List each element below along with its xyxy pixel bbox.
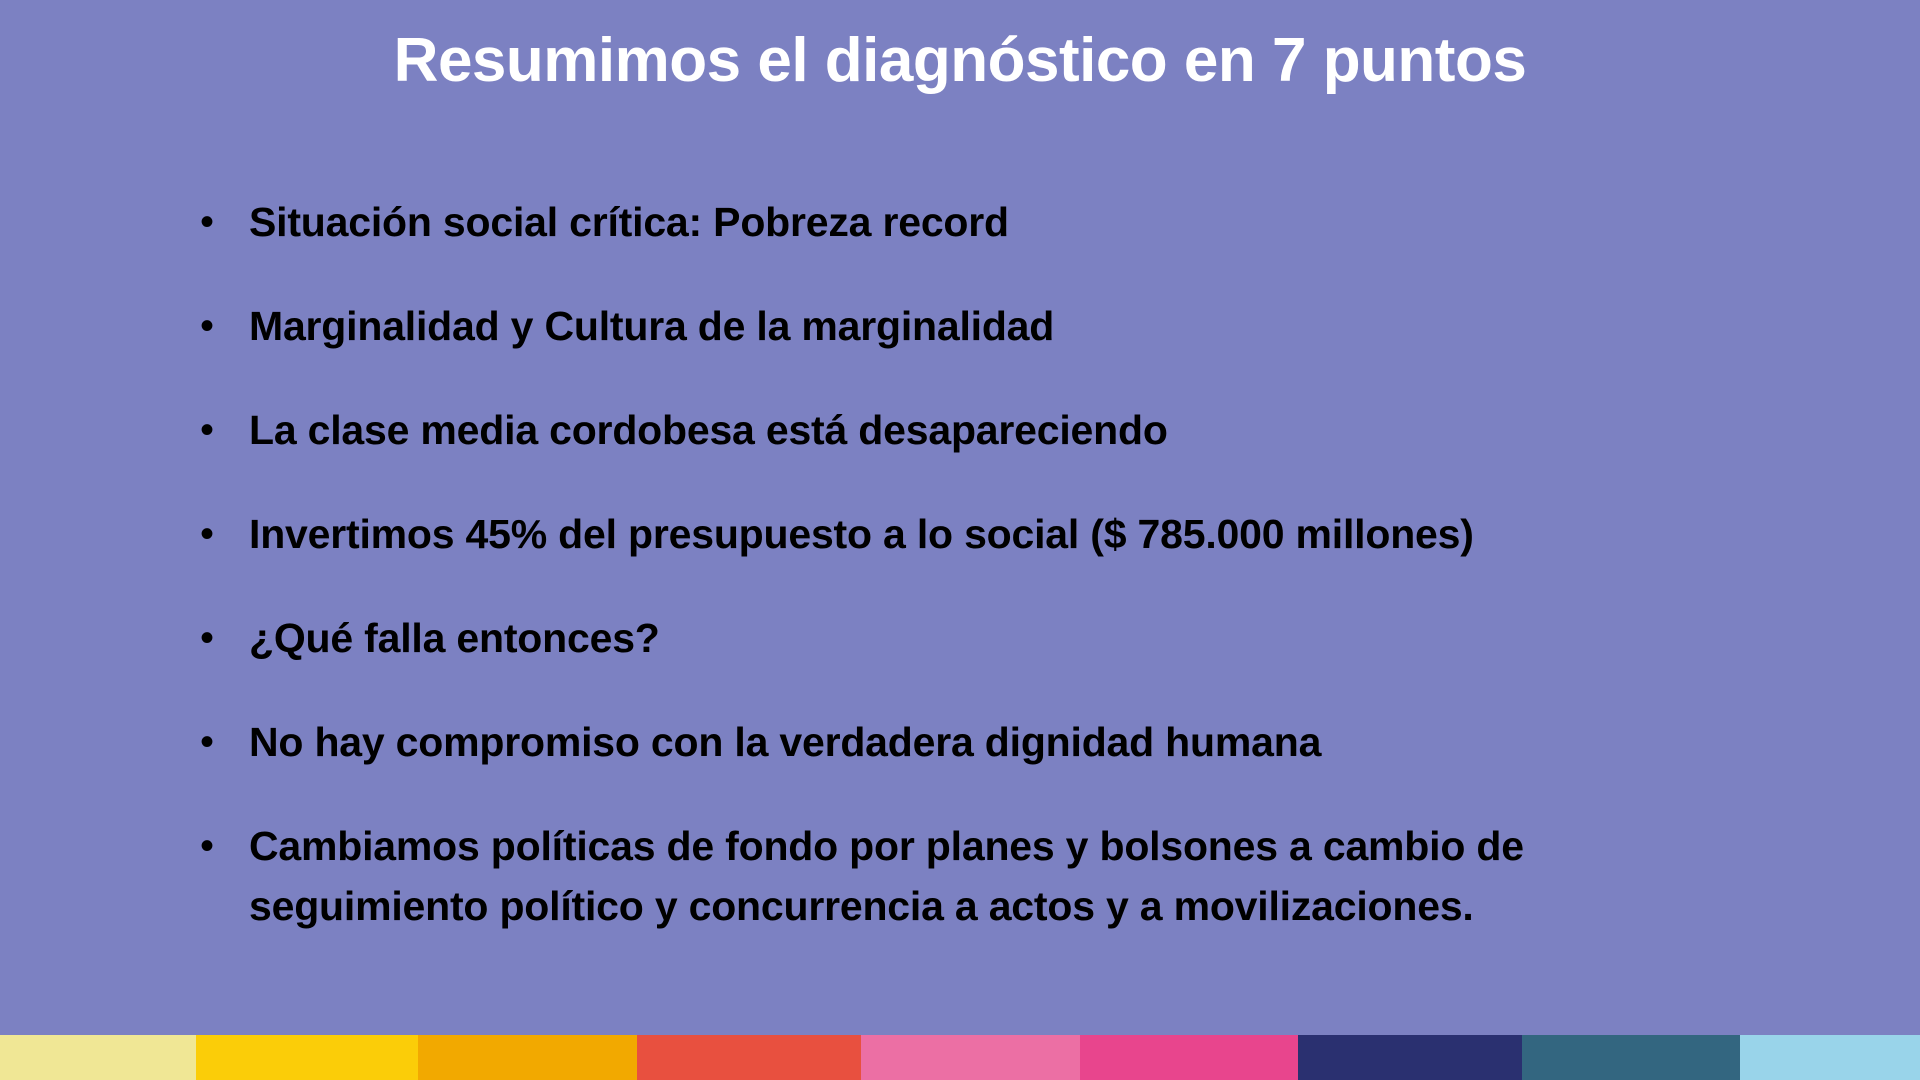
bullet-point-icon: •	[186, 608, 249, 668]
bullet-text: ¿Qué falla entonces?	[249, 608, 1666, 668]
bullet-point-icon: •	[186, 504, 249, 564]
list-item: • Cambiamos políticas de fondo por plane…	[186, 816, 1666, 936]
list-item: • ¿Qué falla entonces?	[186, 608, 1666, 668]
footer-band-sky-blue	[1740, 1035, 1920, 1080]
footer-band-red-orange	[637, 1035, 861, 1080]
bullet-list: • Situación social crítica: Pobreza reco…	[186, 192, 1666, 936]
footer-band-pale-yellow	[0, 1035, 196, 1080]
footer-band-navy	[1298, 1035, 1522, 1080]
footer-band-pink-light	[861, 1035, 1080, 1080]
bullet-point-icon: •	[186, 192, 249, 252]
bullet-text: Invertimos 45% del presupuesto a lo soci…	[249, 504, 1666, 564]
footer-color-bar	[0, 1035, 1920, 1080]
bullet-text: La clase media cordobesa está desapareci…	[249, 400, 1666, 460]
list-item: • La clase media cordobesa está desapare…	[186, 400, 1666, 460]
bullet-text: No hay compromiso con la verdadera digni…	[249, 712, 1666, 772]
list-item: • Marginalidad y Cultura de la marginali…	[186, 296, 1666, 356]
list-item: • Invertimos 45% del presupuesto a lo so…	[186, 504, 1666, 564]
bullet-point-icon: •	[186, 712, 249, 772]
bullet-text: Cambiamos políticas de fondo por planes …	[249, 816, 1666, 936]
footer-band-amber	[418, 1035, 637, 1080]
footer-band-teal	[1522, 1035, 1740, 1080]
bullet-text: Situación social crítica: Pobreza record	[249, 192, 1666, 252]
bullet-point-icon: •	[186, 816, 249, 876]
list-item: • No hay compromiso con la verdadera dig…	[186, 712, 1666, 772]
list-item: • Situación social crítica: Pobreza reco…	[186, 192, 1666, 252]
footer-band-gold	[196, 1035, 418, 1080]
bullet-point-icon: •	[186, 400, 249, 460]
bullet-text: Marginalidad y Cultura de la marginalida…	[249, 296, 1666, 356]
slide-title: Resumimos el diagnóstico en 7 puntos	[0, 28, 1920, 95]
footer-band-magenta	[1080, 1035, 1298, 1080]
bullet-point-icon: •	[186, 296, 249, 356]
presentation-slide: Resumimos el diagnóstico en 7 puntos • S…	[0, 0, 1920, 1080]
